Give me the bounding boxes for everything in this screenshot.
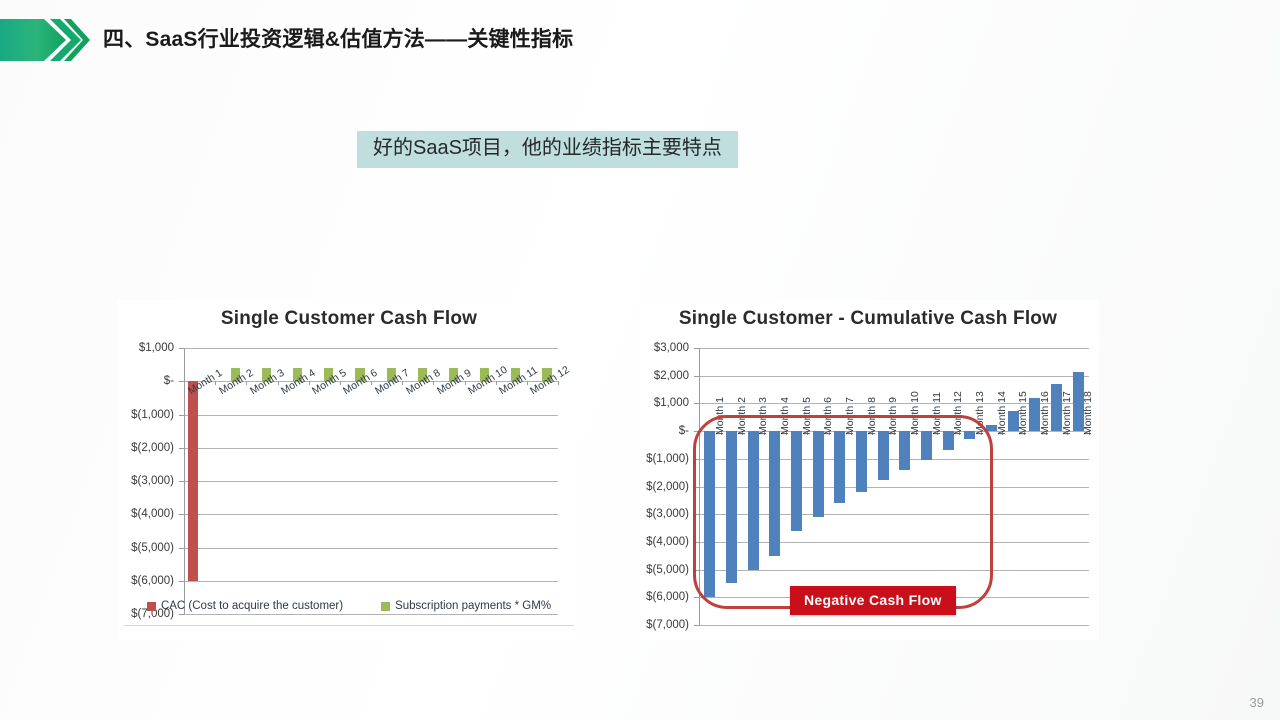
x-axis-label: Month 1 <box>186 367 225 397</box>
gridline <box>184 548 558 549</box>
page-number: 39 <box>1250 695 1264 710</box>
bar <box>899 431 910 470</box>
slide: 四、SaaS行业投资逻辑&估值方法——关键性指标 好的SaaS项目，他的业绩指标… <box>0 0 1280 720</box>
legend-item: CAC (Cost to acquire the customer) <box>147 600 343 612</box>
y-axis-label: $(1,000) <box>131 409 174 421</box>
x-axis-label: Month 1 <box>714 397 726 435</box>
chart-single-customer-cash-flow: Single Customer Cash Flow $1,000$-$(1,00… <box>118 300 580 640</box>
gridline <box>184 514 558 515</box>
gridline <box>699 348 1089 349</box>
y-axis-label: $(3,000) <box>131 475 174 487</box>
x-axis-label: Month 2 <box>736 397 748 435</box>
x-axis-label: Month 12 <box>952 391 964 435</box>
page-title: 四、SaaS行业投资逻辑&估值方法——关键性指标 <box>103 23 573 53</box>
bar <box>813 431 824 517</box>
y-axis-tick <box>694 625 699 626</box>
y-axis-label: $3,000 <box>654 342 689 354</box>
x-axis-label: Month 3 <box>757 397 769 435</box>
slide-header: 四、SaaS行业投资逻辑&估值方法——关键性指标 <box>0 0 1280 66</box>
y-axis-label: $(7,000) <box>646 619 689 631</box>
bar <box>878 431 889 479</box>
x-axis-label: Month 4 <box>779 397 791 435</box>
y-axis-label: $(5,000) <box>131 542 174 554</box>
y-axis-label: $(1,000) <box>646 453 689 465</box>
x-axis-tick <box>699 431 700 435</box>
y-axis-label: $- <box>679 425 689 437</box>
bar <box>704 431 715 597</box>
bar <box>856 431 867 492</box>
chart-right-plot-area: $3,000$2,000$1,000$-$(1,000)$(2,000)$(3,… <box>699 348 1089 625</box>
bar <box>769 431 780 556</box>
gridline <box>184 581 558 582</box>
x-axis-label: Month 17 <box>1061 391 1073 435</box>
bar <box>726 431 737 583</box>
legend-label: Subscription payments * GM% <box>395 600 551 612</box>
x-axis-tick <box>184 381 185 385</box>
chevron-arrow-decoration <box>0 19 90 61</box>
bar <box>921 431 932 460</box>
y-axis-label: $(3,000) <box>646 508 689 520</box>
x-axis-label: Month 14 <box>996 391 1008 435</box>
y-axis-line <box>184 348 185 614</box>
y-axis-label: $1,000 <box>654 397 689 409</box>
chart-right-title: Single Customer - Cumulative Cash Flow <box>637 308 1099 330</box>
gridline <box>184 348 558 349</box>
x-axis-label: Month 5 <box>801 397 813 435</box>
x-axis-label: Month 13 <box>974 391 986 435</box>
y-axis-label: $(6,000) <box>131 575 174 587</box>
y-axis-label: $- <box>164 375 174 387</box>
x-axis-label: Month 10 <box>909 391 921 435</box>
y-axis-tick <box>179 614 184 615</box>
bar <box>834 431 845 503</box>
y-axis-label: $(4,000) <box>646 536 689 548</box>
x-axis-label: Month 16 <box>1039 391 1051 435</box>
bar <box>748 431 759 570</box>
legend-label: CAC (Cost to acquire the customer) <box>161 600 343 612</box>
chart-left-plot-area: $1,000$-$(1,000)$(2,000)$(3,000)$(4,000)… <box>184 348 558 614</box>
gridline <box>699 570 1089 571</box>
y-axis-label: $1,000 <box>139 342 174 354</box>
x-axis-label: Month 11 <box>931 392 943 435</box>
chart-left-legend: CAC (Cost to acquire the customer)Subscr… <box>118 600 580 612</box>
subtitle-banner: 好的SaaS项目，他的业绩指标主要特点 <box>357 131 738 168</box>
bar <box>791 431 802 531</box>
y-axis-label: $2,000 <box>654 370 689 382</box>
y-axis-label: $(2,000) <box>131 442 174 454</box>
legend-swatch <box>381 602 390 611</box>
gridline <box>699 376 1089 377</box>
x-axis-label: Month 15 <box>1017 391 1029 435</box>
x-axis-label: Month 9 <box>887 397 899 435</box>
y-axis-label: $(5,000) <box>646 564 689 576</box>
chart-left-bottom-rule <box>124 625 574 626</box>
gridline <box>699 625 1089 626</box>
x-axis-label: Month 6 <box>822 397 834 435</box>
gridline <box>184 448 558 449</box>
y-axis-label: $(4,000) <box>131 508 174 520</box>
bar <box>188 381 197 581</box>
subtitle-text: 好的SaaS项目，他的业绩指标主要特点 <box>373 137 722 159</box>
y-axis-line <box>699 348 700 625</box>
chart-left-title: Single Customer Cash Flow <box>118 308 580 330</box>
x-axis-label: Month 7 <box>844 397 856 435</box>
gridline <box>184 481 558 482</box>
y-axis-label: $(2,000) <box>646 481 689 493</box>
gridline <box>184 415 558 416</box>
negative-cash-flow-label: Negative Cash Flow <box>790 586 956 615</box>
y-axis-label: $(6,000) <box>646 591 689 603</box>
chart-single-customer-cumulative-cash-flow: Single Customer - Cumulative Cash Flow $… <box>637 300 1099 640</box>
legend-swatch <box>147 602 156 611</box>
x-axis-label: Month 8 <box>866 397 878 435</box>
legend-item: Subscription payments * GM% <box>381 600 551 612</box>
gridline <box>184 614 558 615</box>
x-axis-label: Month 18 <box>1082 391 1094 435</box>
